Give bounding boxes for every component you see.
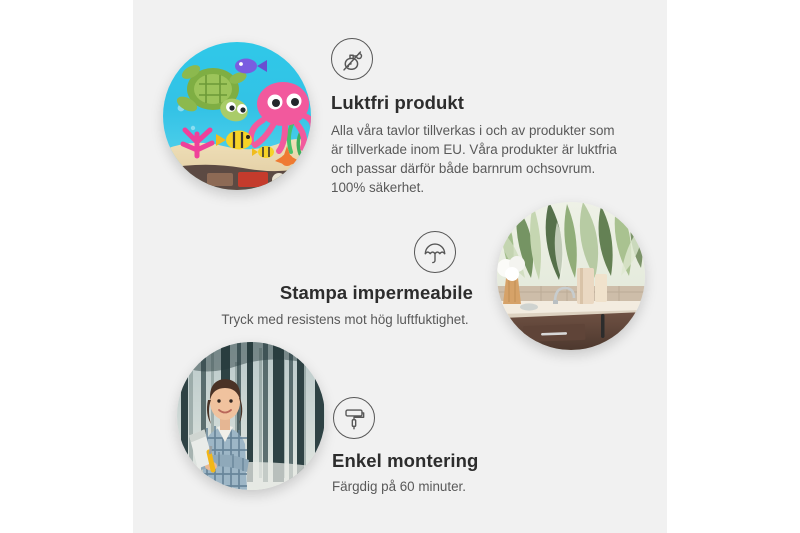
no-fragrance-icon: [331, 38, 373, 80]
feature-title: Luktfri produkt: [331, 92, 623, 114]
paint-roller-icon: [333, 397, 375, 439]
feature-waterproof: Stampa impermeabile Tryck med resistens …: [215, 231, 475, 329]
feature-body: Alla våra tavlor tillverkas i och av pro…: [331, 121, 623, 197]
feature-odourless: Luktfri produkt Alla våra tavlor tillver…: [331, 38, 623, 197]
feature-body: Färgdig på 60 minuter.: [332, 477, 572, 496]
umbrella-icon: [414, 231, 456, 273]
decorator-forest-photo: [177, 342, 325, 490]
product-feature-infographic: Luktfri produkt Alla våra tavlor tillver…: [0, 0, 800, 533]
feature-title: Enkel montering: [332, 450, 572, 472]
bathroom-vanity-photo: [497, 202, 645, 350]
feature-body: Tryck med resistens mot hög luftfuktighe…: [215, 310, 475, 329]
underwater-scene-photo: [163, 42, 311, 190]
feature-assembly: Enkel montering Färgdig på 60 minuter.: [332, 397, 572, 496]
feature-title: Stampa impermeabile: [215, 282, 475, 304]
